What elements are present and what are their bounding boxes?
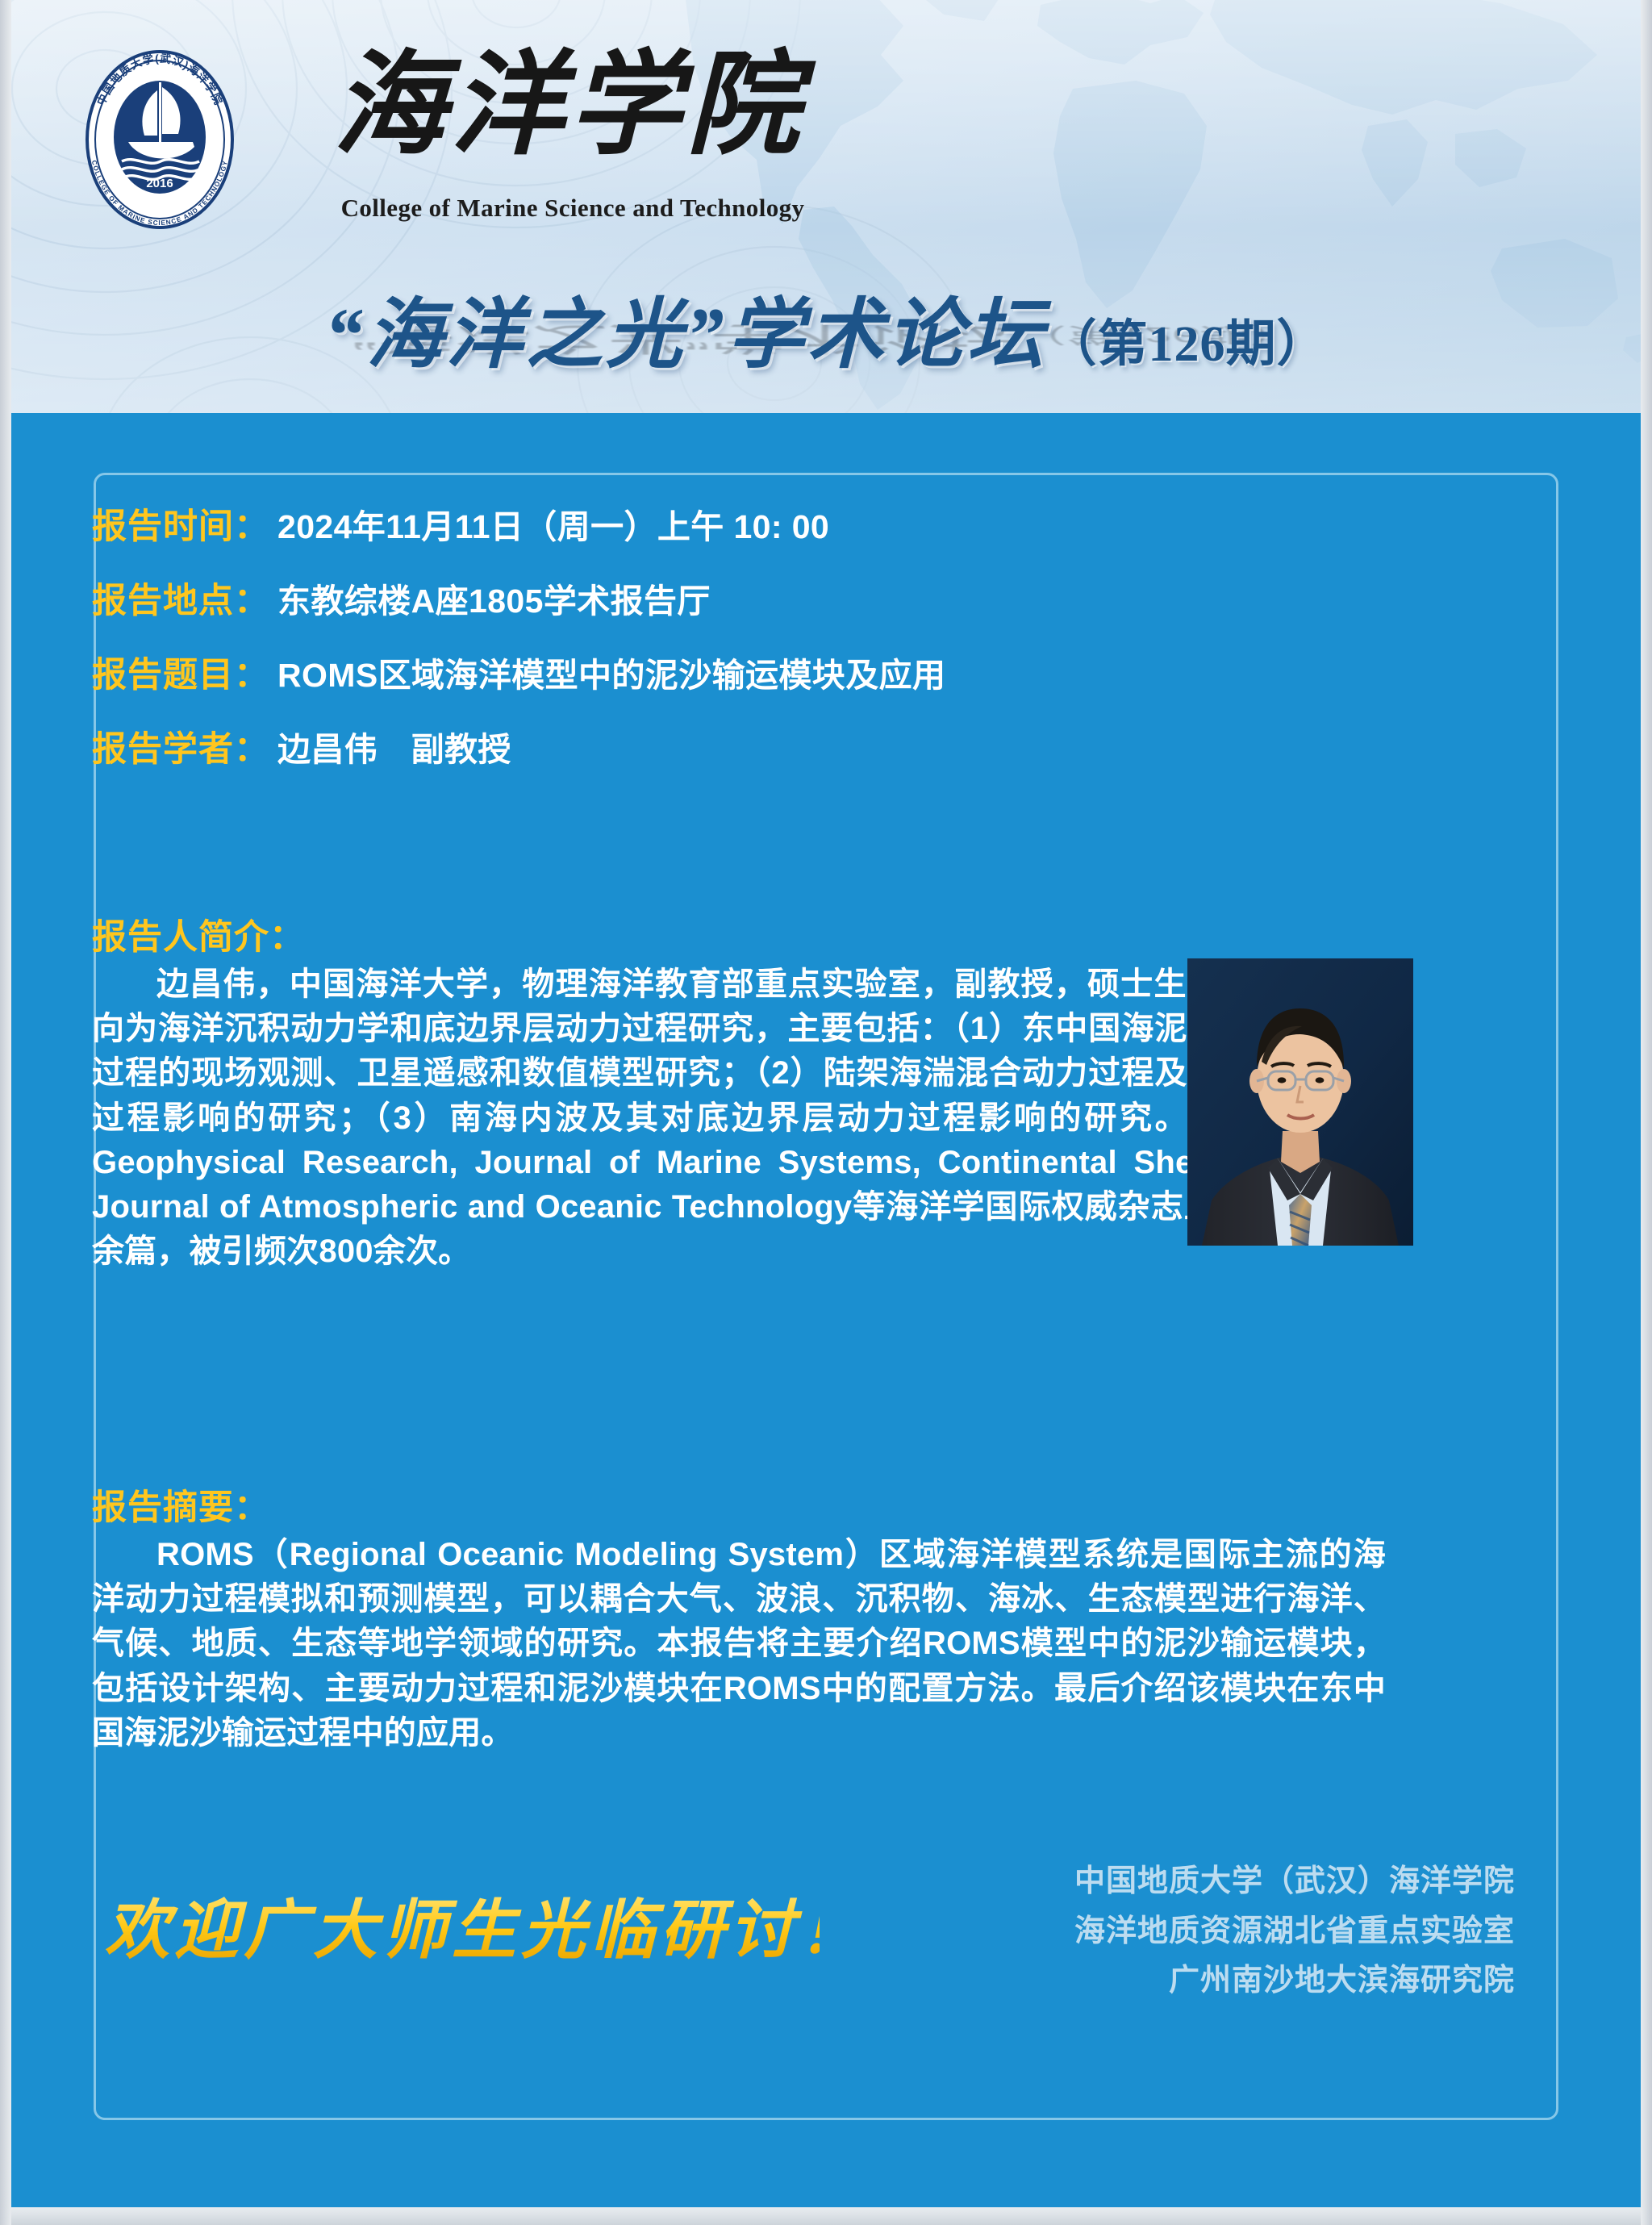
forum-issue-number: （第126期）	[1047, 317, 1328, 372]
bio-section-heading: 报告人简介：	[92, 909, 1386, 959]
info-value-location: 东教综楼A座1805学术报告厅	[277, 574, 711, 622]
info-value-time: 2024年11月11日（周一）上午 10: 00	[277, 499, 829, 548]
info-row-speaker: 报告学者： 边昌伟 副教授	[92, 721, 1205, 771]
info-row-location: 报告地点： 东教综楼A座1805学术报告厅	[92, 573, 1205, 623]
seal-year-text: 2016	[146, 177, 173, 190]
poster-body: 报告时间： 2024年11月11日（周一）上午 10: 00 报告地点： 东教综…	[0, 413, 1652, 2225]
poster-header: 2016 中国地质大学(武汉)海洋学院 COLLEGE OF MARINE SC…	[0, 0, 1652, 413]
info-label-time: 报告时间：	[92, 499, 269, 549]
forum-title: “海洋之光”学术论坛（第126期）	[0, 273, 1652, 383]
college-name-en: College of Marine Science and Technology	[323, 194, 823, 223]
seminar-poster: 2016 中国地质大学(武汉)海洋学院 COLLEGE OF MARINE SC…	[0, 0, 1652, 2225]
college-name-cn-text: 海洋学院	[333, 44, 816, 169]
abstract-section-heading: 报告摘要：	[92, 1480, 1386, 1530]
organizer-line-college: 中国地质大学（武汉）海洋学院	[1074, 1857, 1515, 1907]
info-value-speaker: 边昌伟 副教授	[277, 722, 511, 770]
seminar-info-list: 报告时间： 2024年11月11日（周一）上午 10: 00 报告地点： 东教综…	[92, 499, 1205, 795]
speaker-portrait-photo	[1187, 958, 1413, 1246]
welcome-message-calligraphy: 欢迎广大师生光临研讨！ 欢迎广大师生光临研讨！	[94, 1865, 820, 2002]
page-edge-left	[0, 0, 11, 2225]
page-edge-right	[1641, 0, 1652, 2225]
page-bottom-strip	[0, 2207, 1652, 2225]
organizer-line-institute: 广州南沙地大滨海研究院	[1074, 1956, 1515, 2006]
forum-title-main-text: “海洋之光”学术论坛	[324, 292, 1046, 378]
info-row-topic: 报告题目： ROMS区域海洋模型中的泥沙输运模块及应用	[92, 647, 1205, 697]
info-value-topic: ROMS区域海洋模型中的泥沙输运模块及应用	[277, 648, 945, 696]
info-label-location: 报告地点：	[92, 573, 269, 623]
college-name-calligraphy: 海洋学院	[319, 31, 819, 184]
organizer-list: 中国地质大学（武汉）海洋学院 海洋地质资源湖北省重点实验室 广州南沙地大滨海研究…	[1074, 1857, 1515, 2006]
organizer-line-laboratory: 海洋地质资源湖北省重点实验室	[1074, 1907, 1515, 1957]
abstract-block: 报告摘要： ROMS（Regional Oceanic Modeling Sys…	[92, 1480, 1386, 1755]
welcome-text: 欢迎广大师生光临研讨！	[105, 1896, 820, 1967]
info-label-speaker: 报告学者：	[92, 721, 269, 771]
info-row-time: 报告时间： 2024年11月11日（周一）上午 10: 00	[92, 499, 1205, 549]
info-label-topic: 报告题目：	[92, 647, 269, 697]
university-seal-logo: 2016 中国地质大学(武汉)海洋学院 COLLEGE OF MARINE SC…	[75, 40, 244, 230]
abstract-paragraph: ROMS（Regional Oceanic Modeling System）区域…	[92, 1533, 1386, 1755]
